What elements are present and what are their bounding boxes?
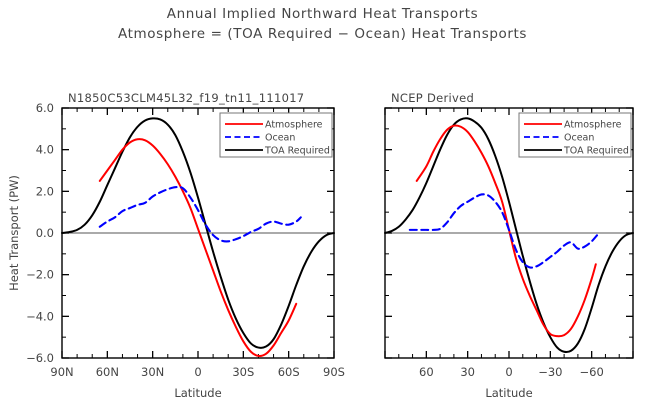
y-tick-label: 2.0 bbox=[36, 184, 54, 198]
x-tick-label: 60 bbox=[419, 365, 434, 379]
y-tick-label: 6.0 bbox=[36, 101, 54, 115]
x-tick-label: 90N bbox=[50, 365, 73, 379]
plot-canvas: N1850C53CLM45L32_f19_tn11_111017−6.0−4.0… bbox=[0, 0, 645, 401]
x-tick-label: 0 bbox=[194, 365, 201, 379]
x-axis-label-left: Latitude bbox=[174, 386, 221, 400]
x-tick-label: 0 bbox=[505, 365, 512, 379]
y-tick-label: −2.0 bbox=[26, 268, 54, 282]
x-tick-label: 60S bbox=[278, 365, 300, 379]
legend-label-ocean: Ocean bbox=[564, 133, 594, 144]
series-atmosphere-left bbox=[100, 139, 296, 356]
x-tick-label: −30 bbox=[538, 365, 562, 379]
y-tick-label: 4.0 bbox=[36, 143, 54, 157]
figure-root: Annual Implied Northward Heat Transports… bbox=[0, 0, 645, 401]
x-tick-label: 30 bbox=[460, 365, 475, 379]
x-tick-label: 90S bbox=[323, 365, 345, 379]
legend-label-ocean: Ocean bbox=[265, 133, 295, 144]
y-tick-label: 0.0 bbox=[36, 226, 54, 240]
y-axis-label: Heat Transport (PW) bbox=[7, 175, 21, 291]
panel-title-left: N1850C53CLM45L32_f19_tn11_111017 bbox=[68, 91, 304, 105]
legend-label-toa-required: TOA Required bbox=[563, 146, 629, 157]
legend-label-atmosphere: Atmosphere bbox=[564, 120, 622, 131]
y-tick-label: −4.0 bbox=[26, 309, 54, 323]
x-tick-label: −60 bbox=[580, 365, 604, 379]
x-axis-label-right: Latitude bbox=[485, 386, 532, 400]
x-tick-label: 30N bbox=[141, 365, 164, 379]
legend-label-atmosphere: Atmosphere bbox=[265, 120, 323, 131]
x-tick-label: 30S bbox=[232, 365, 254, 379]
legend-label-toa-required: TOA Required bbox=[264, 146, 330, 157]
y-tick-label: −6.0 bbox=[26, 351, 54, 365]
panel-title-right: NCEP Derived bbox=[391, 91, 474, 105]
x-tick-label: 60N bbox=[96, 365, 119, 379]
